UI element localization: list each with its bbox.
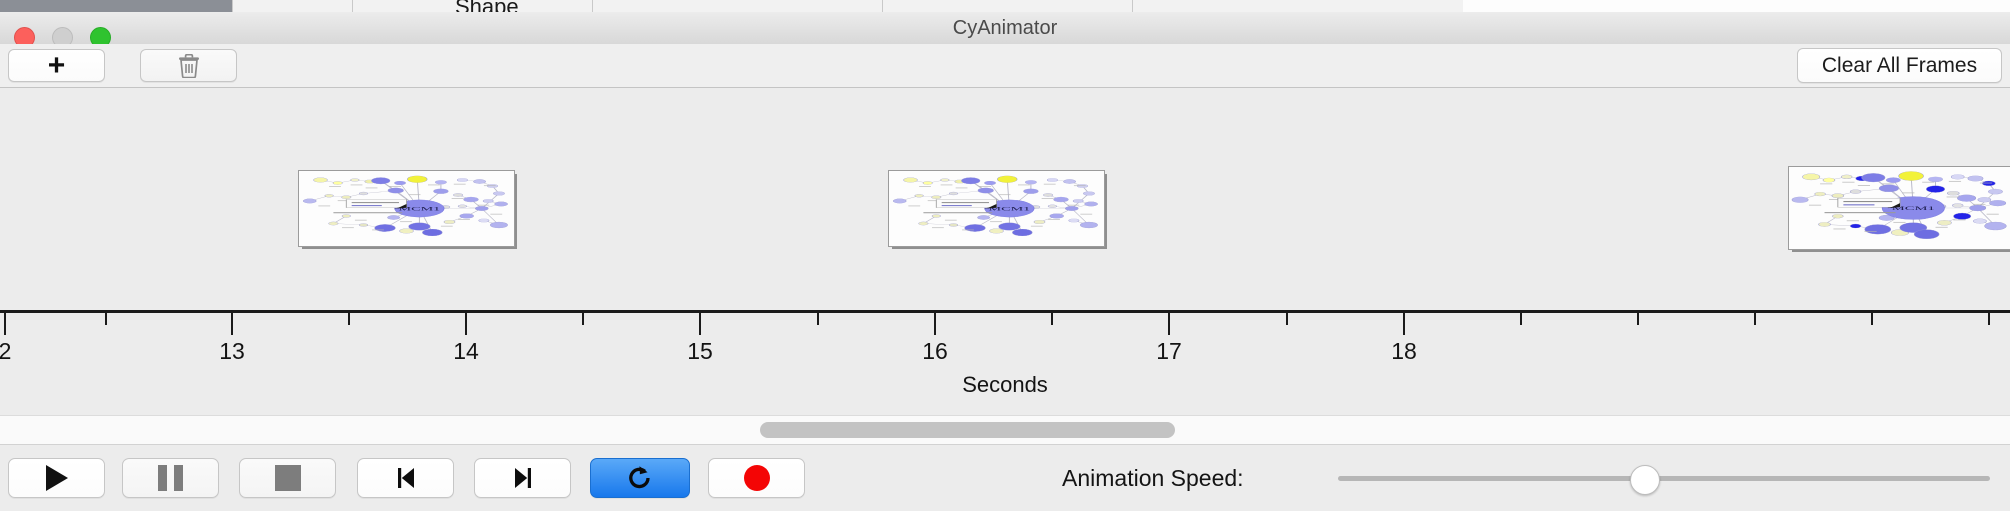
ruler-tick-label: 13 [219, 338, 245, 365]
ruler-tick-label: 16 [922, 338, 948, 365]
ruler-tick-label: 2 [0, 338, 11, 365]
horizontal-scrollbar-thumb[interactable] [760, 422, 1175, 438]
keyframe-image: MCM1 [888, 170, 1105, 247]
animation-speed-label: Animation Speed: [1062, 458, 1244, 498]
ruler-tick-minor-13 [1520, 313, 1522, 325]
ruler-tick-minor-3 [348, 313, 350, 325]
background-window-dark-panel [0, 0, 232, 12]
ruler-tick-minor-5 [582, 313, 584, 325]
animation-speed-slider-track[interactable] [1338, 476, 1990, 481]
background-tab-1 [232, 0, 353, 12]
play-icon [46, 465, 68, 491]
background-tab-5 [1132, 0, 1463, 12]
network-thumbnail-graph: MCM1 [299, 171, 514, 246]
timeline-ruler[interactable]: 2131415161718 Seconds [0, 310, 2010, 415]
cyanimator-window: Shape CyAnimator + Clear All Frames MCM1… [0, 0, 2010, 510]
animation-speed-slider-thumb[interactable] [1630, 465, 1660, 495]
axis-title: Seconds [0, 372, 2010, 398]
pause-button[interactable] [122, 458, 219, 498]
pause-icon [158, 465, 183, 491]
ruler-tick-label: 14 [453, 338, 479, 365]
horizontal-scrollbar-track[interactable] [0, 415, 2010, 445]
network-thumbnail-graph: MCM1 [889, 171, 1104, 246]
ruler-tick-minor-1 [105, 313, 107, 325]
ruler-tick-minor-17 [1988, 313, 1990, 325]
ruler-tick-minor-11 [1286, 313, 1288, 325]
ruler-tick-18 [1403, 313, 1405, 335]
clear-all-frames-label: Clear All Frames [1822, 54, 1977, 78]
ruler-tick-label: 15 [687, 338, 713, 365]
clear-all-frames-button[interactable]: Clear All Frames [1797, 48, 2002, 83]
ruler-tick-17 [1168, 313, 1170, 335]
trash-icon [178, 54, 200, 78]
ruler-tick-15 [699, 313, 701, 335]
keyframe-track[interactable]: MCM1MCM1MCM1 [0, 88, 2010, 311]
stop-button[interactable] [239, 458, 336, 498]
ruler-tick-minor-14 [1637, 313, 1639, 325]
loop-icon [625, 463, 655, 493]
ruler-tick-label: 18 [1391, 338, 1417, 365]
keyframe-image: MCM1 [298, 170, 515, 247]
record-button[interactable] [708, 458, 805, 498]
ruler-tick-2 [4, 313, 6, 335]
ruler-tick-16 [934, 313, 936, 335]
keyframe-thumbnail[interactable]: MCM1 [888, 170, 1103, 245]
loop-button[interactable] [590, 458, 690, 498]
skip-forward-button[interactable] [474, 458, 571, 498]
toolbar: + Clear All Frames [0, 44, 2010, 88]
play-button[interactable] [8, 458, 105, 498]
keyframe-thumbnail[interactable]: MCM1 [298, 170, 513, 245]
skip-back-icon [394, 465, 418, 491]
background-tab-label: Shape [455, 0, 519, 12]
ruler-tick-14 [465, 313, 467, 335]
background-window-strip: Shape [0, 0, 2010, 12]
playback-bar: Animation Speed: [0, 444, 2010, 511]
ruler-tick-minor-7 [817, 313, 819, 325]
background-tab-3 [592, 0, 883, 12]
ruler-tick-minor-16 [1871, 313, 1873, 325]
plus-icon: + [48, 54, 66, 78]
ruler-tick-13 [231, 313, 233, 335]
skip-back-button[interactable] [357, 458, 454, 498]
window-title: CyAnimator [0, 12, 2010, 44]
add-frame-button[interactable]: + [8, 49, 105, 82]
background-tab-4 [882, 0, 1133, 12]
ruler-tick-minor-15 [1754, 313, 1756, 325]
ruler-tick-label: 17 [1156, 338, 1182, 365]
skip-forward-icon [511, 465, 535, 491]
keyframe-image: MCM1 [1788, 166, 2010, 250]
network-thumbnail-graph: MCM1 [1789, 167, 2010, 249]
record-icon [744, 465, 770, 491]
ruler-tick-minor-9 [1051, 313, 1053, 325]
ruler-baseline [0, 310, 2010, 313]
delete-frame-button[interactable] [140, 49, 237, 82]
stop-icon [275, 465, 301, 491]
keyframe-thumbnail[interactable]: MCM1 [1788, 166, 2010, 248]
